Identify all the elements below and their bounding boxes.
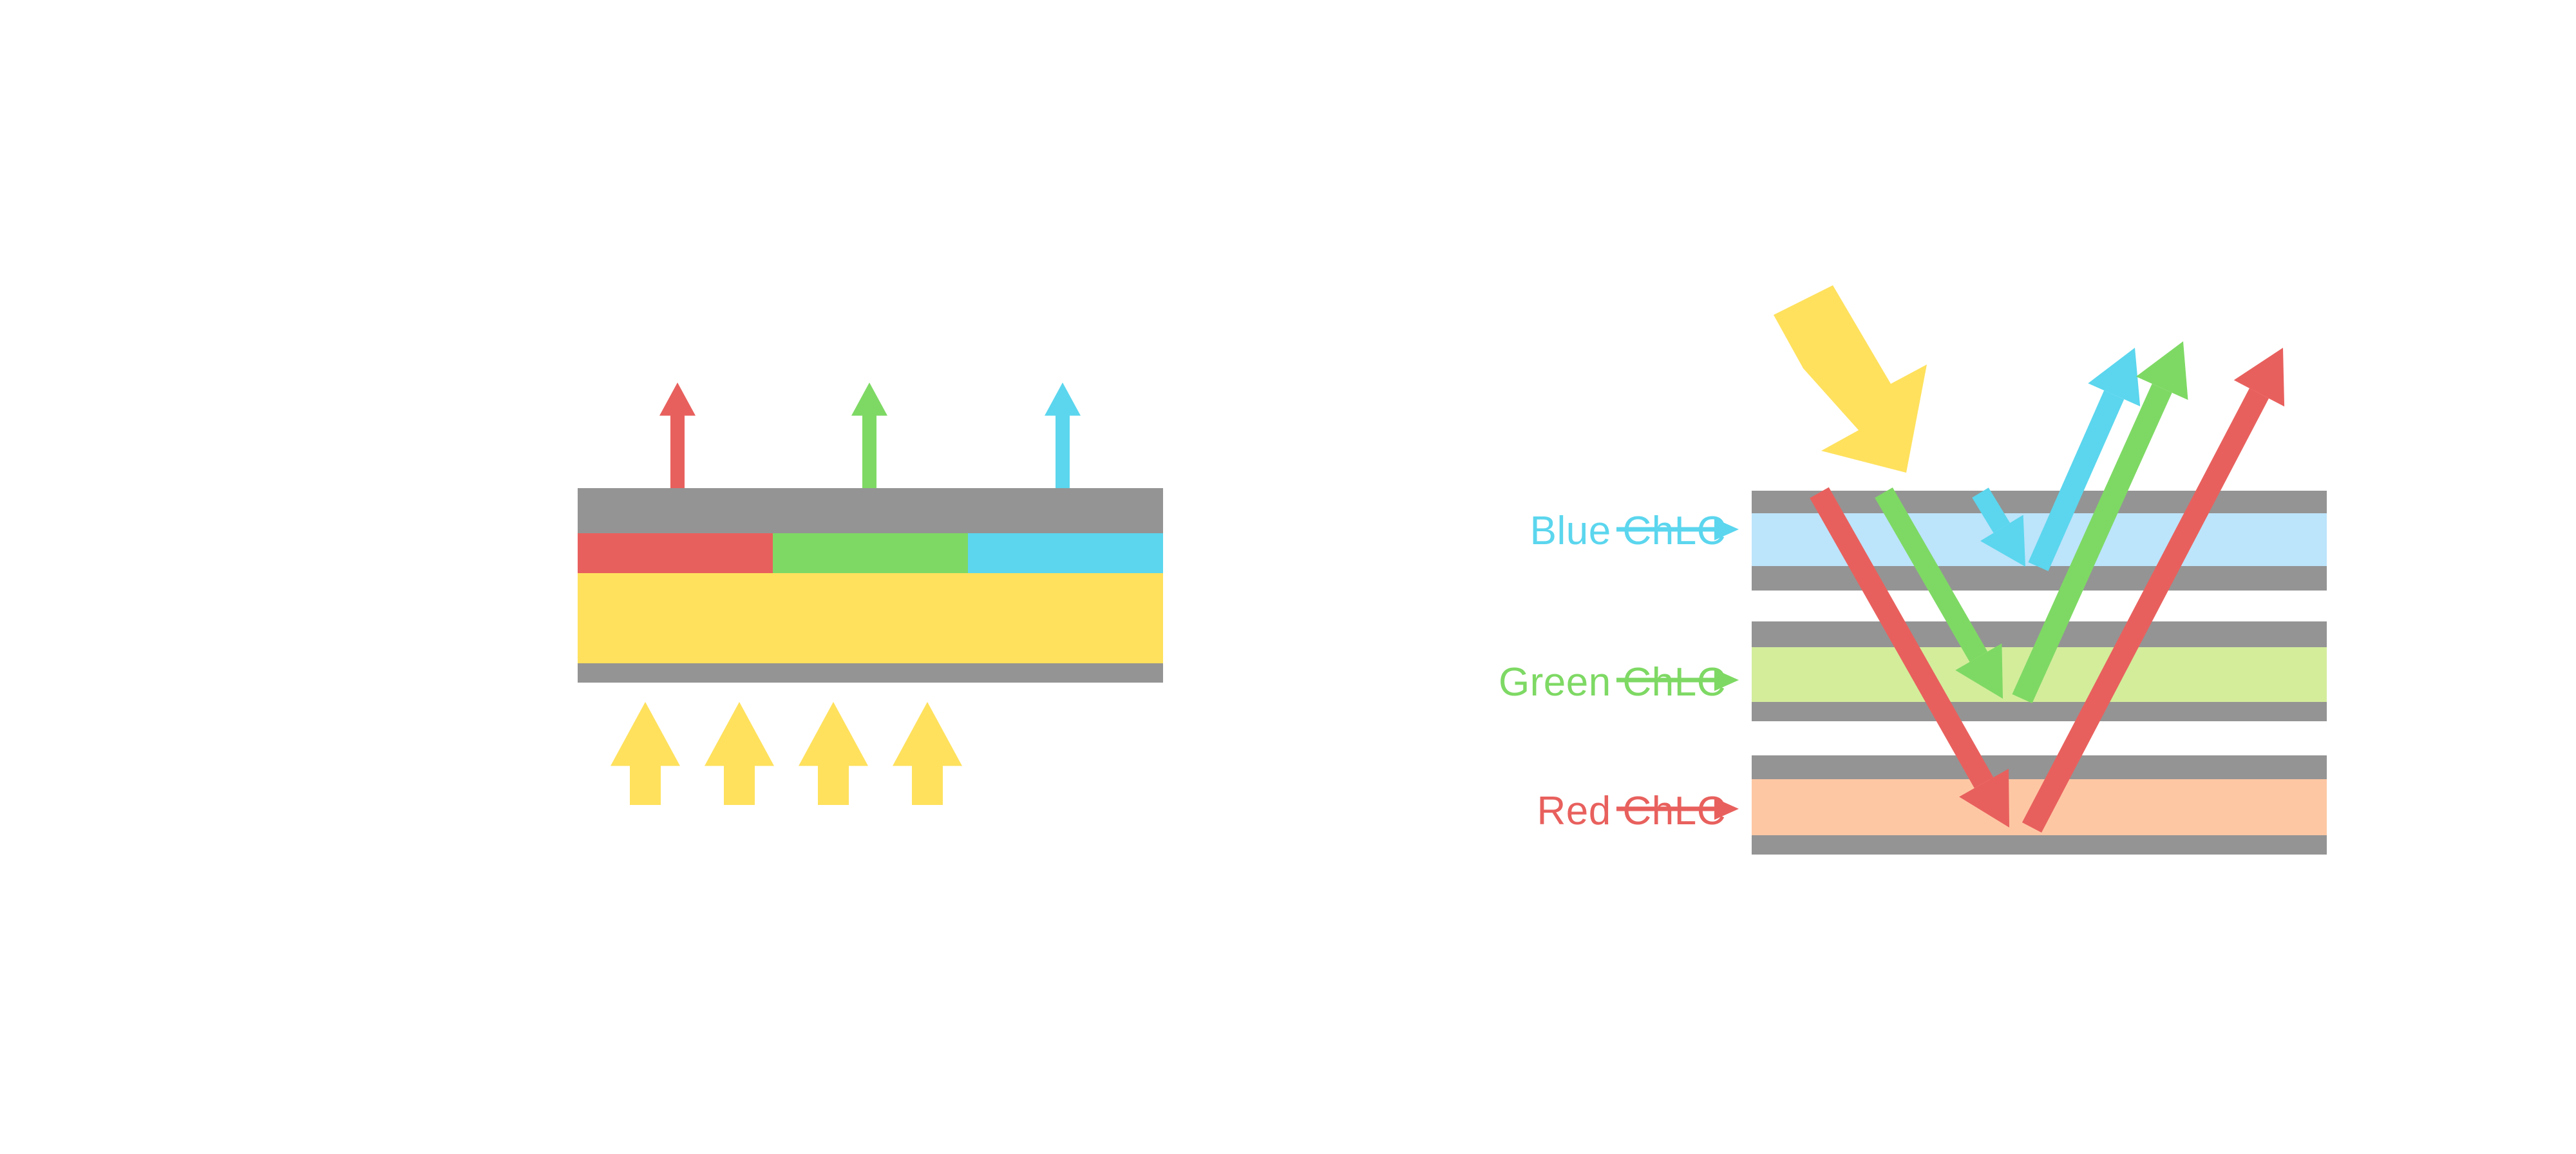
right-panel-chlc-stack: Blue ChLCGreen ChLCRed ChLC	[1499, 285, 2327, 855]
diagram-svg: Blue ChLCGreen ChLCRed ChLC	[0, 0, 2576, 1154]
blue-cell-bottom-electrode	[1752, 566, 2327, 591]
backlight-arrow-2	[705, 702, 774, 805]
green-emission-arrow	[851, 383, 887, 488]
red-filter	[578, 533, 773, 573]
backlight-layer	[578, 573, 1163, 663]
red-cell-top-electrode	[1752, 755, 2327, 779]
figure-canvas: Blue ChLCGreen ChLCRed ChLC	[0, 0, 2576, 1154]
backlight-arrow-1	[611, 702, 680, 805]
red-cell-bottom-electrode	[1752, 835, 2327, 855]
bottom-electrode	[578, 663, 1163, 683]
green-filter	[773, 533, 968, 573]
green-label-arrow-head	[1714, 669, 1739, 691]
backlight-arrow-3	[799, 702, 868, 805]
blue-filter	[968, 533, 1163, 573]
green-cell-bottom-electrode	[1752, 702, 2327, 721]
backlight-arrow-4	[893, 702, 962, 805]
top-electrode	[578, 488, 1163, 533]
red-label-arrow-head	[1714, 798, 1739, 820]
left-panel-transmissive-stack	[578, 383, 1163, 805]
blue-label-arrow-head	[1714, 518, 1739, 540]
ambient-light-arrow	[1774, 285, 1927, 473]
blue-emission-arrow	[1045, 383, 1081, 488]
red-emission-arrow	[659, 383, 696, 488]
color-filter-row	[578, 533, 1163, 573]
